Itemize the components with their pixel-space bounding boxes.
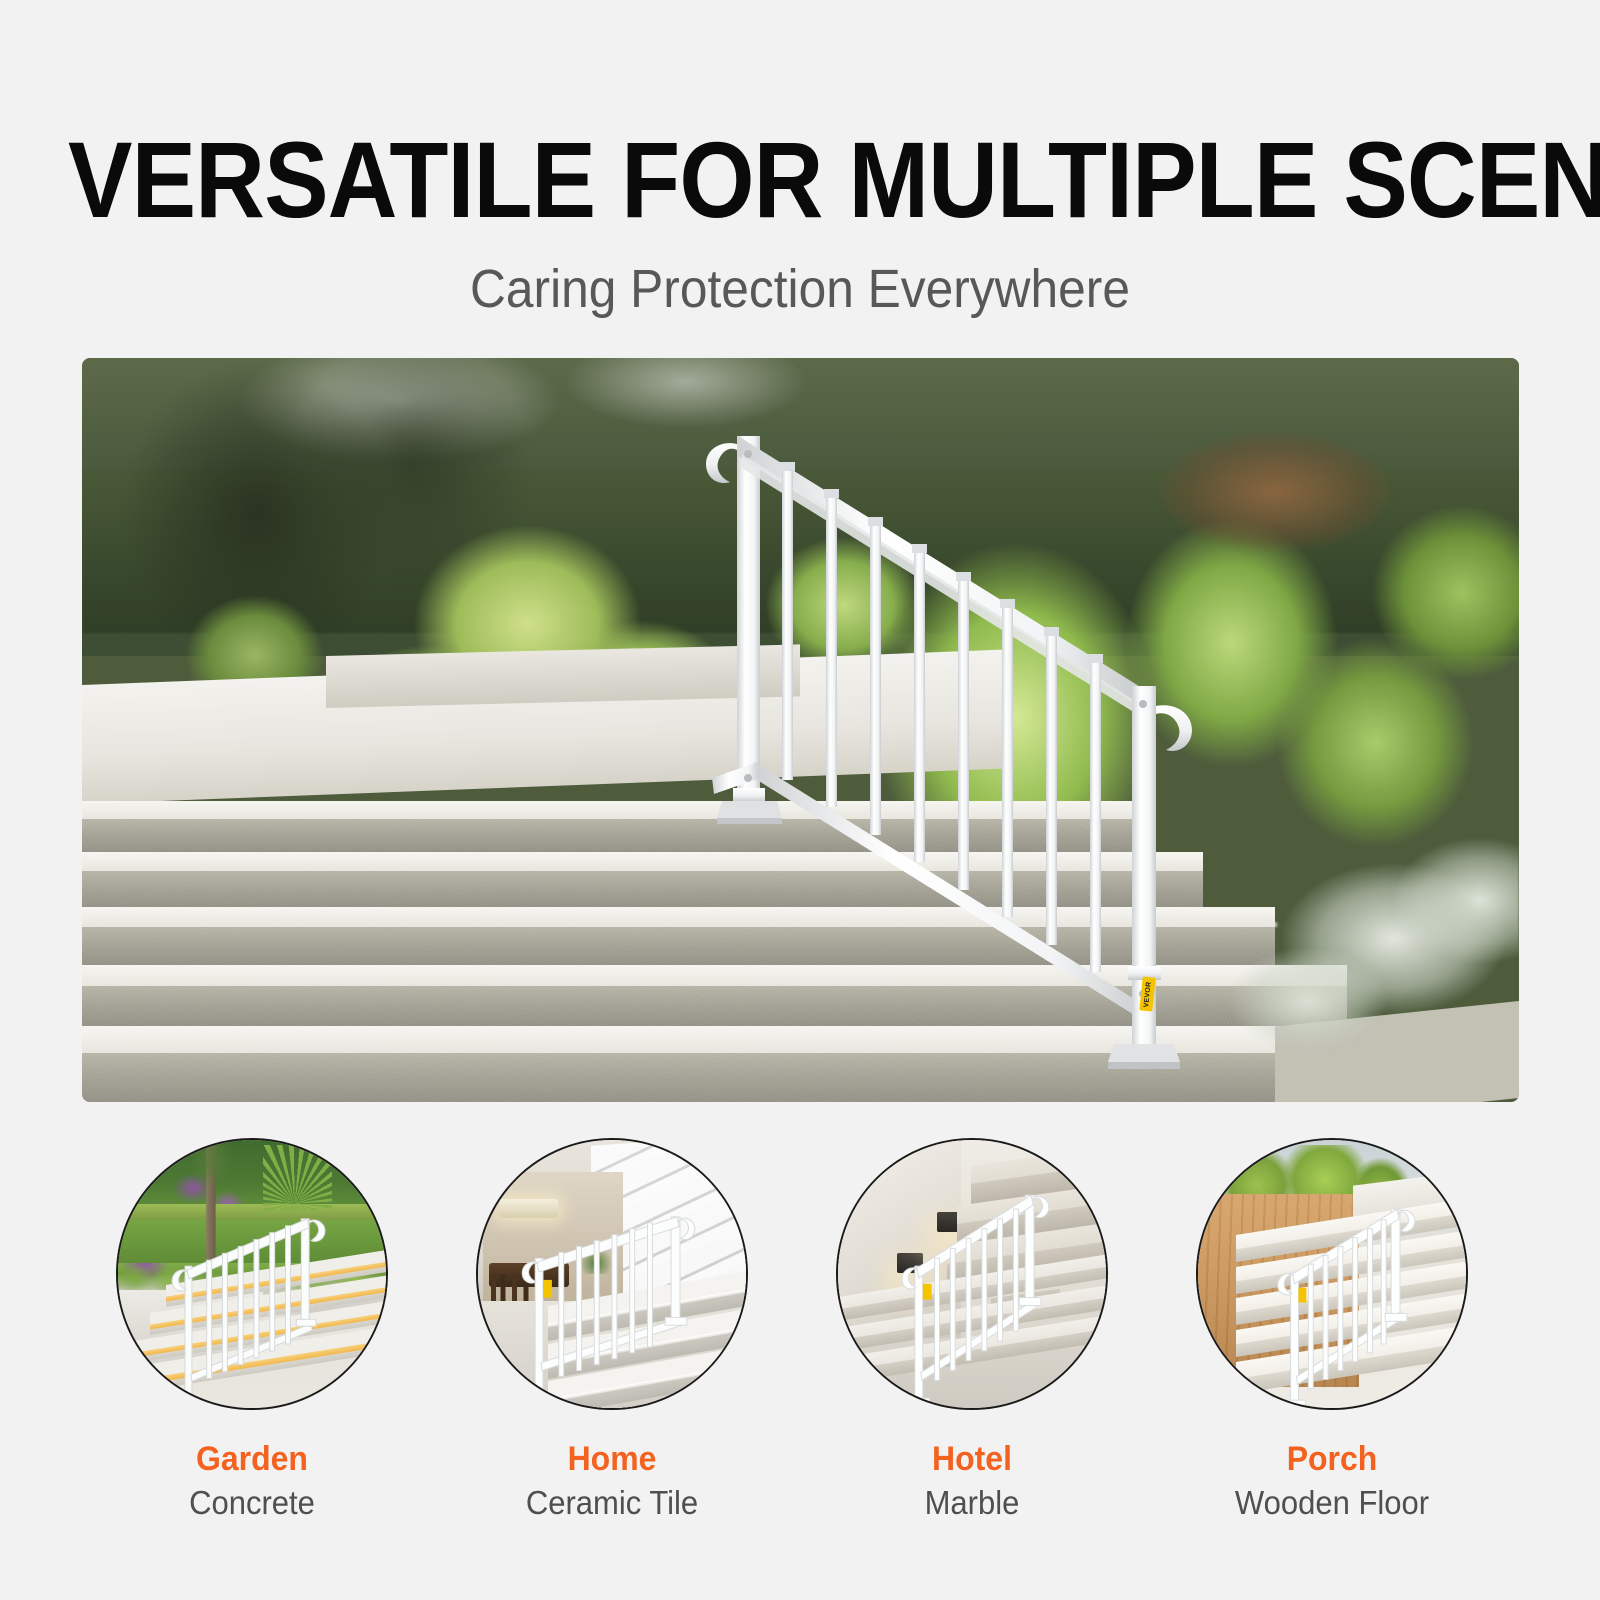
hero-step-riser (82, 819, 1145, 854)
porch-steps-photo (1196, 1138, 1468, 1410)
garden-handrail (118, 1140, 386, 1408)
page-title: VERSATILE FOR MULTIPLE SCENARIOS (68, 124, 1378, 236)
product-feature-page: VERSATILE FOR MULTIPLE SCENARIOS Caring … (0, 0, 1600, 1600)
hero-bronze-shrub (1160, 432, 1390, 551)
hotel-stairs-photo (836, 1138, 1108, 1410)
home-stairs-photo (476, 1138, 748, 1410)
porch-handrail (1198, 1140, 1466, 1408)
scenario-label-hotel: Hotel (831, 1440, 1113, 1478)
hero-step-4 (82, 965, 1347, 1027)
garden-steps-photo (116, 1138, 388, 1410)
scenario-row: Garden Concrete (0, 1138, 1600, 1558)
scenario-surface-porch: Wooden Floor (1191, 1484, 1473, 1521)
hero-step-riser (82, 871, 1203, 908)
scenario-card-porch[interactable]: Porch Wooden Floor (1182, 1138, 1482, 1521)
porch-scene (1198, 1140, 1466, 1408)
hotel-scene (838, 1140, 1106, 1408)
hero-step-tread (82, 965, 1347, 986)
hero-terrace-slab (326, 644, 800, 708)
hotel-handrail (838, 1140, 1106, 1408)
garden-scene (118, 1140, 386, 1408)
home-scene (478, 1140, 746, 1408)
hero-step-tread (82, 907, 1275, 927)
scenario-label-porch: Porch (1191, 1440, 1473, 1478)
hero-step-3 (82, 907, 1275, 967)
hero-step-riser (82, 986, 1347, 1027)
hero-step-2 (82, 852, 1203, 909)
hero-step-tread (82, 852, 1203, 871)
scenario-card-hotel[interactable]: Hotel Marble (822, 1138, 1122, 1521)
hero-step-1 (82, 801, 1145, 855)
scenario-surface-hotel: Marble (831, 1484, 1113, 1521)
hero-step-riser (82, 927, 1275, 966)
hero-step-tread (82, 801, 1145, 819)
scenario-label-garden: Garden (111, 1440, 393, 1478)
hero-dusty-miller-plants (1189, 834, 1520, 1072)
scenario-surface-home: Ceramic Tile (471, 1484, 753, 1521)
scenario-card-garden[interactable]: Garden Concrete (102, 1138, 402, 1521)
vevor-badge-label: VEVOR (1143, 981, 1153, 1008)
page-subtitle: Caring Protection Everywhere (64, 258, 1536, 320)
scenario-surface-garden: Concrete (111, 1484, 393, 1521)
hero-photo: VEVOR (82, 358, 1519, 1102)
scenario-label-home: Home (471, 1440, 753, 1478)
scenario-card-home[interactable]: Home Ceramic Tile (462, 1138, 762, 1521)
home-handrail (478, 1140, 746, 1408)
